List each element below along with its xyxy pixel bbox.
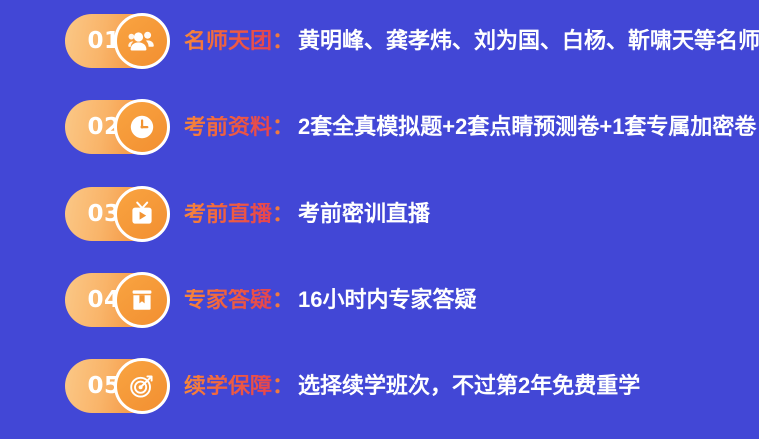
badge-icon-circle (114, 358, 170, 414)
feature-row: 04 专家答疑：16小时内专家答疑 (65, 272, 477, 328)
badge-icon-circle (114, 272, 170, 328)
feature-label: 续学保障 (184, 375, 272, 397)
feature-value: 选择续学班次，不过第2年免费重学 (298, 375, 640, 397)
badge-05: 05 (65, 359, 168, 413)
feature-value: 2套全真模拟题+2套点睛预测卷+1套专属加密卷 (298, 116, 756, 138)
feature-row: 05 续学保障：选择续学班次，不过第2年免费重学 (65, 358, 640, 414)
feature-label: 专家答疑 (184, 289, 272, 311)
feature-colon: ： (272, 203, 294, 225)
feature-value: 16小时内专家答疑 (298, 289, 476, 311)
badge-02: 02 (65, 100, 168, 154)
feature-text: 名师天团：黄明峰、龚孝炜、刘为国、白杨、靳啸天等名师 (184, 30, 759, 52)
feature-label: 考前直播 (184, 203, 272, 225)
feature-text: 考前资料：2套全真模拟题+2套点睛预测卷+1套专属加密卷 (184, 116, 756, 138)
feature-text: 考前直播：考前密训直播 (184, 203, 430, 225)
badge-icon-circle (114, 186, 170, 242)
badge-icon-circle (114, 13, 170, 69)
badge-01: 01 (65, 14, 168, 68)
target-arrow-icon (128, 372, 156, 400)
book-bookmark-icon (128, 286, 156, 314)
badge-04: 04 (65, 273, 168, 327)
feature-row: 01 名师天团：黄明峰、龚孝炜、刘为国、白杨、靳啸天等名师 (65, 13, 759, 69)
feature-colon: ： (272, 30, 294, 52)
feature-colon: ： (272, 375, 294, 397)
feature-row: 03 考前直播：考前密训直播 (65, 186, 430, 242)
badge-03: 03 (65, 187, 168, 241)
feature-row: 02 考前资料：2套全真模拟题+2套点睛预测卷+1套专属加密卷 (65, 99, 756, 155)
users-icon (128, 27, 156, 55)
feature-value: 黄明峰、龚孝炜、刘为国、白杨、靳啸天等名师 (298, 30, 759, 52)
clock-icon (128, 113, 156, 141)
badge-icon-circle (114, 99, 170, 155)
feature-colon: ： (272, 116, 294, 138)
feature-list: 01 名师天团：黄明峰、龚孝炜、刘为国、白杨、靳啸天等名师 (0, 0, 759, 439)
feature-value: 考前密训直播 (298, 203, 430, 225)
feature-label: 名师天团 (184, 30, 272, 52)
feature-text: 续学保障：选择续学班次，不过第2年免费重学 (184, 375, 640, 397)
feature-text: 专家答疑：16小时内专家答疑 (184, 289, 477, 311)
feature-colon: ： (272, 289, 294, 311)
feature-label: 考前资料 (184, 116, 272, 138)
tv-play-icon (128, 200, 156, 228)
